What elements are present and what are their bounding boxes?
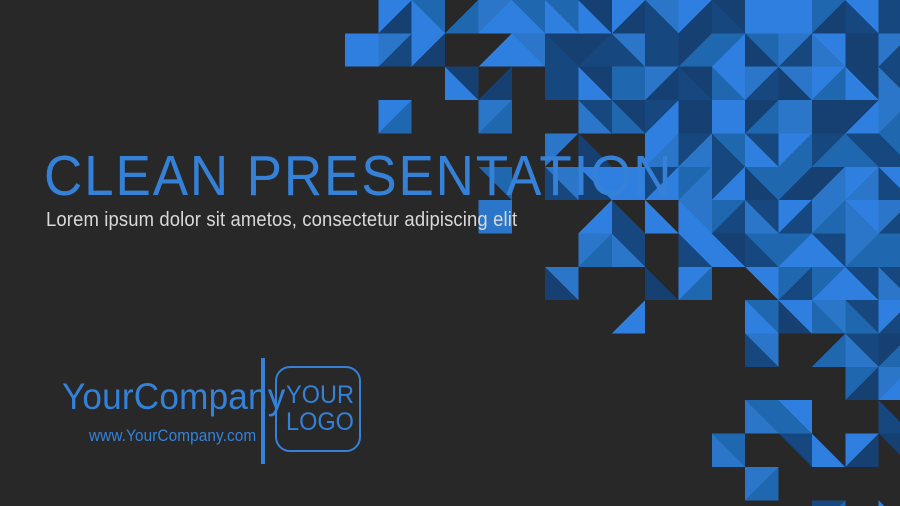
slide-text-layer: CLEAN PRESENTATION Lorem ipsum dolor sit…	[0, 0, 900, 506]
page-subtitle: Lorem ipsum dolor sit ametos, consectetu…	[46, 207, 517, 232]
company-website: www.YourCompany.com	[89, 426, 256, 446]
presentation-slide: CLEAN PRESENTATION Lorem ipsum dolor sit…	[0, 0, 900, 506]
company-name: YourCompany	[62, 376, 286, 418]
logo-mark-line-1: YOUR	[278, 382, 363, 409]
company-logo-block: YourCompany www.YourCompany.com YOUR LOG…	[62, 355, 362, 470]
page-title: CLEAN PRESENTATION	[44, 146, 673, 206]
logo-mark: YOUR LOGO	[275, 366, 365, 456]
logo-divider	[261, 358, 265, 464]
logo-mark-line-2: LOGO	[278, 409, 363, 436]
